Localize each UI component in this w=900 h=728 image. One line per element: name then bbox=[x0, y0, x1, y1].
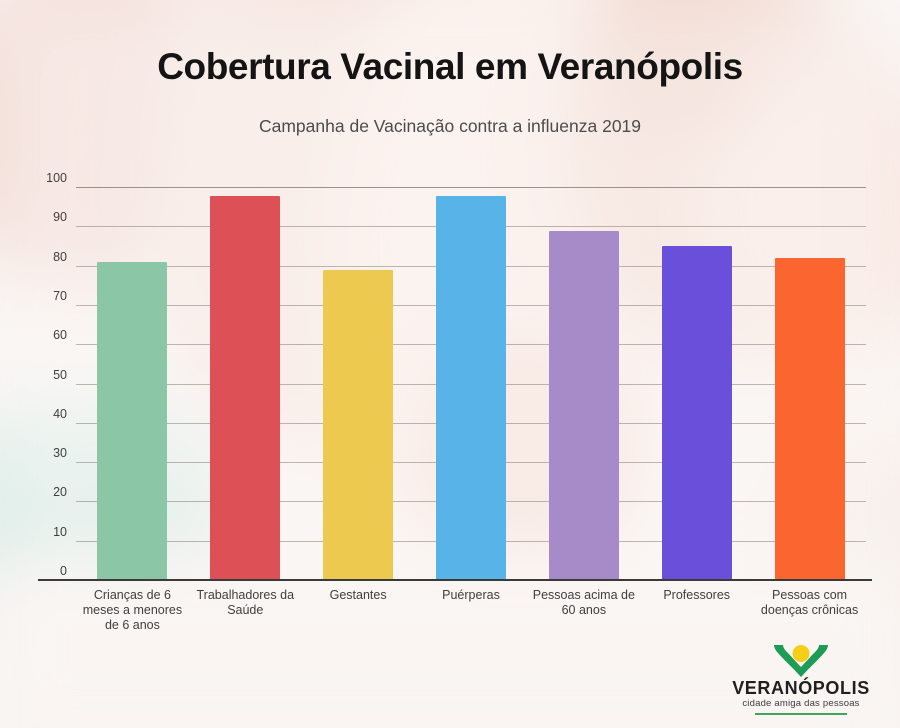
vaccination-coverage-chart: Cobertura Vacinal em Veranópolis Campanh… bbox=[0, 0, 900, 728]
y-axis-tick-label: 50 bbox=[53, 367, 67, 381]
bar bbox=[323, 270, 393, 580]
y-axis-tick-label: 80 bbox=[53, 249, 67, 263]
plot-area: 1009080706050403020100 bbox=[76, 187, 866, 580]
x-axis-category-label: Trabalhadores da Saúde bbox=[193, 588, 298, 618]
logo-wordmark: VERANÓPOLIS bbox=[727, 678, 875, 699]
veranopolis-logo: VERANÓPOLIS cidade amiga das pessoas bbox=[727, 645, 875, 715]
x-axis-category-label: Crianças de 6 meses a menores de 6 anos bbox=[80, 588, 185, 633]
logo-tagline: cidade amiga das pessoas bbox=[727, 698, 875, 709]
bar bbox=[549, 231, 619, 580]
x-axis-labels: Crianças de 6 meses a menores de 6 anosT… bbox=[76, 588, 866, 648]
y-axis-tick-label: 0 bbox=[60, 564, 67, 578]
logo-underline bbox=[755, 713, 847, 715]
bar bbox=[436, 196, 506, 580]
chart-title: Cobertura Vacinal em Veranópolis bbox=[0, 0, 900, 88]
chart-header: Cobertura Vacinal em Veranópolis Campanh… bbox=[0, 0, 900, 137]
bar bbox=[210, 196, 280, 580]
chart-subtitle: Campanha de Vacinação contra a influenza… bbox=[0, 88, 900, 137]
y-axis-tick-label: 30 bbox=[53, 446, 67, 460]
y-axis-tick-label: 90 bbox=[53, 210, 67, 224]
x-axis-category-label: Puérperas bbox=[419, 588, 524, 603]
bar bbox=[662, 246, 732, 580]
veranopolis-v-mark-icon bbox=[771, 645, 831, 679]
y-axis-tick-label: 60 bbox=[53, 328, 67, 342]
bar bbox=[775, 258, 845, 580]
bar bbox=[97, 262, 167, 580]
bar-series bbox=[76, 187, 866, 580]
x-axis-category-label: Professores bbox=[644, 588, 749, 603]
x-axis-category-label: Gestantes bbox=[306, 588, 411, 603]
y-axis-tick-label: 40 bbox=[53, 407, 67, 421]
x-axis-category-label: Pessoas acima de 60 anos bbox=[531, 588, 636, 618]
y-axis-tick-label: 10 bbox=[53, 525, 67, 539]
x-axis-line bbox=[38, 579, 872, 582]
y-axis-tick-label: 70 bbox=[53, 289, 67, 303]
y-axis-tick-label: 20 bbox=[53, 485, 67, 499]
x-axis-category-label: Pessoas com doenças crônicas bbox=[757, 588, 862, 618]
y-axis-tick-label: 100 bbox=[46, 171, 67, 185]
